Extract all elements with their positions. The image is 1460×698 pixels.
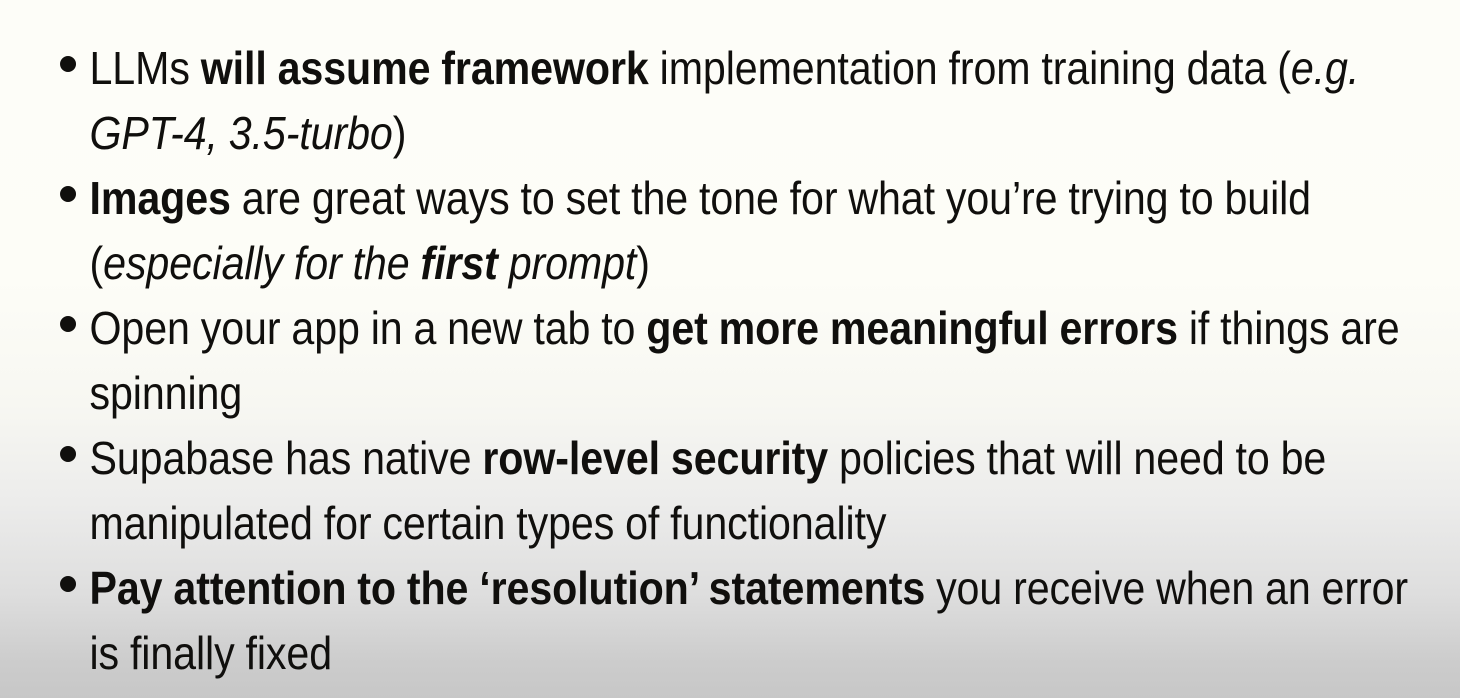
bullet-dot-icon <box>60 316 76 332</box>
bullet-dot-icon <box>60 576 76 592</box>
bullet-dot-icon <box>60 186 76 202</box>
bullet-text: Pay attention to the ‘resolution’ statem… <box>90 556 1447 686</box>
bullet-dot-icon <box>60 446 76 462</box>
text-run: LLMs <box>90 42 201 94</box>
list-item: LLMs will assume framework implementatio… <box>0 0 1459 166</box>
text-run: Supabase has native <box>90 432 483 484</box>
text-run: get more meaningful errors <box>646 302 1178 354</box>
list-item: Open your app in a new tab to get more m… <box>0 296 1459 426</box>
text-run: first <box>420 237 497 289</box>
text-run: Pay attention to the ‘resolution’ statem… <box>90 562 926 614</box>
bullet-dot-icon <box>60 56 76 72</box>
text-run: prompt <box>498 237 637 289</box>
bullet-text: Supabase has native row-level security p… <box>90 426 1447 556</box>
bullet-list: LLMs will assume framework implementatio… <box>0 0 1460 686</box>
text-run: row-level security <box>482 432 828 484</box>
text-run: implementation from training data ( <box>649 42 1291 94</box>
text-run: Images <box>90 172 231 224</box>
list-item: Pay attention to the ‘resolution’ statem… <box>0 556 1459 686</box>
bullet-text: Open your app in a new tab to get more m… <box>90 296 1447 426</box>
bullet-text: LLMs will assume framework implementatio… <box>90 36 1447 166</box>
bullet-text: Images are great ways to set the tone fo… <box>90 166 1447 296</box>
text-run: especially for the <box>103 237 420 289</box>
slide-canvas: LLMs will assume framework implementatio… <box>0 0 1460 698</box>
text-run: ) <box>393 107 407 159</box>
list-item: Supabase has native row-level security p… <box>0 426 1459 556</box>
text-run: Open your app in a new tab to <box>90 302 647 354</box>
text-run: ) <box>636 237 650 289</box>
text-run: will assume framework <box>201 42 649 94</box>
list-item: Images are great ways to set the tone fo… <box>0 166 1459 296</box>
